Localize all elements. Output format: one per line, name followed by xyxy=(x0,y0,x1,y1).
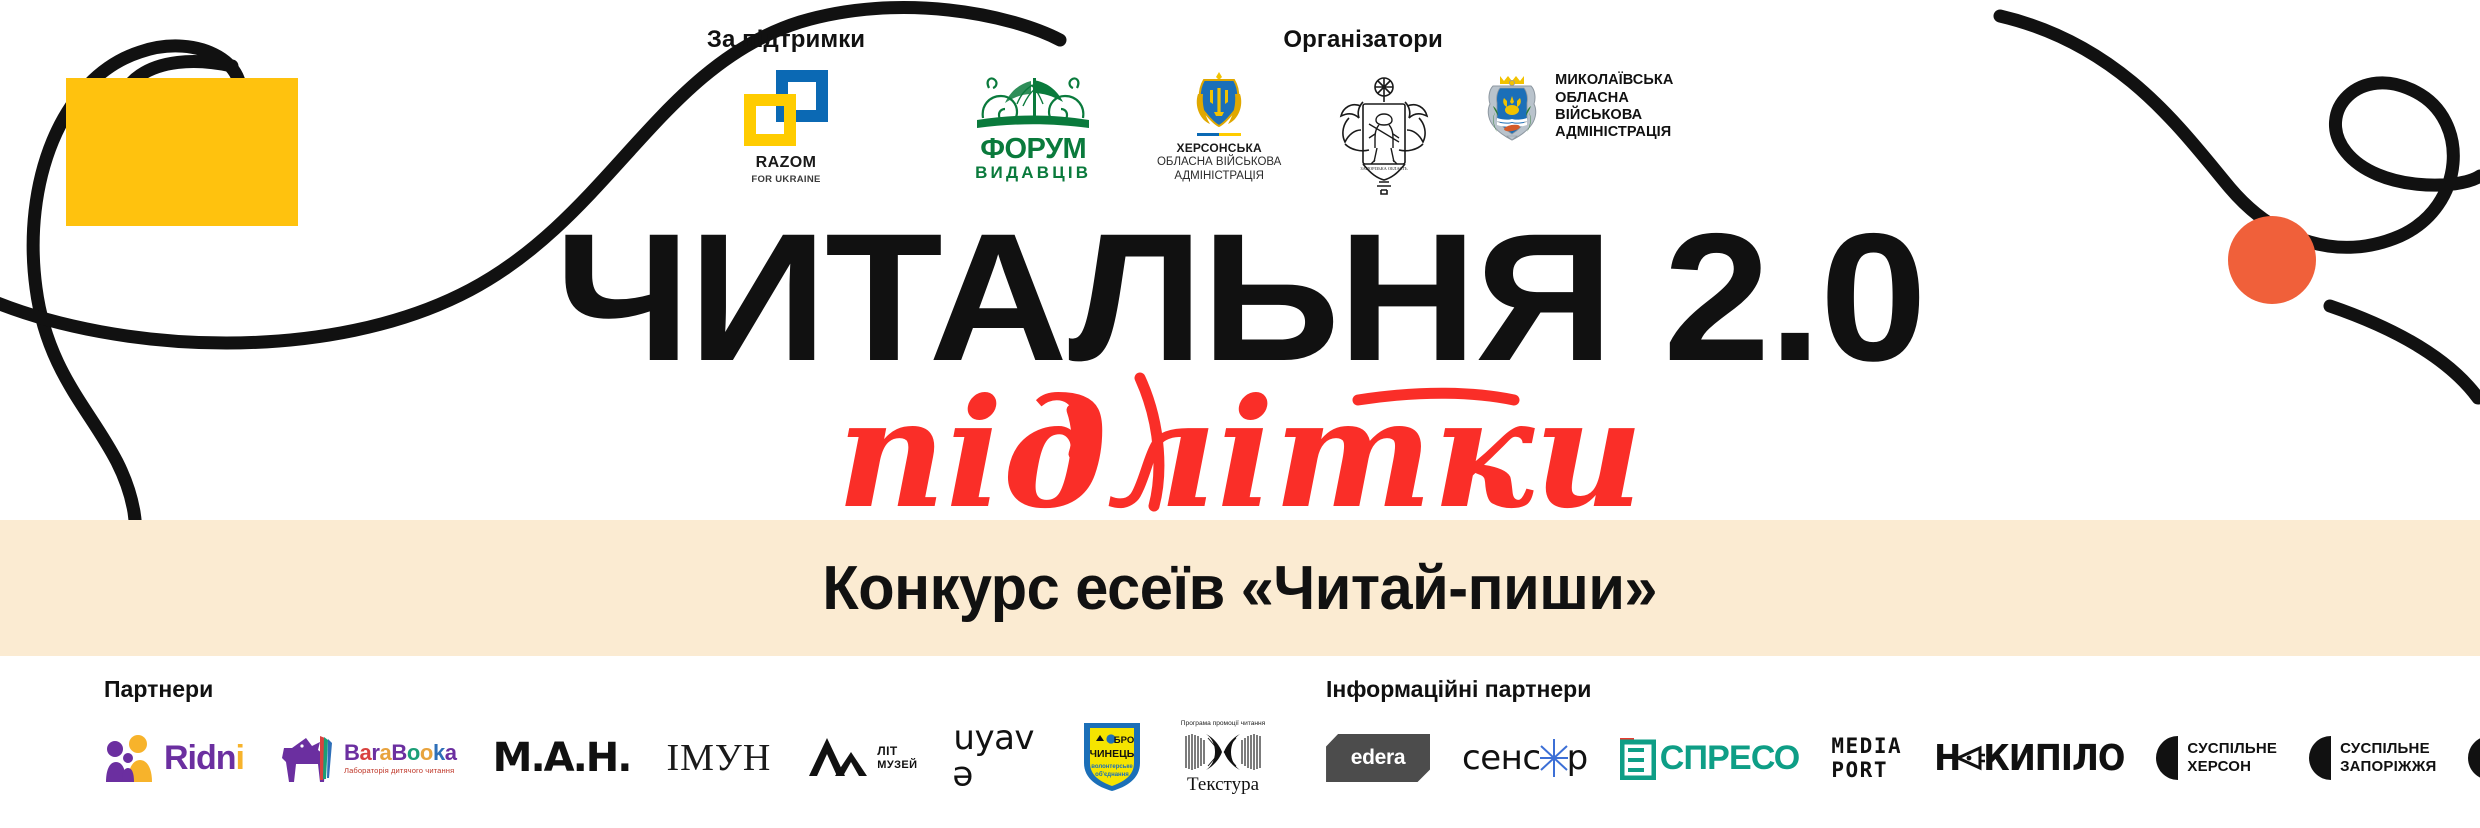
logo-textura[interactable]: Програма промоції читання Текстура xyxy=(1180,720,1266,795)
textura-wordmark: Текстура xyxy=(1187,774,1259,796)
logo-man[interactable]: М.А.Н. xyxy=(493,735,631,781)
support-logos: RAZOM FOR UKRAINE xyxy=(711,70,861,185)
suspilne-kherson-line-2: ХЕРСОН xyxy=(2187,758,2277,776)
oda-flag-rule xyxy=(1197,133,1241,136)
logo-suspilne-zaporizhzhia[interactable]: СУСПІЛЬНЕ ЗАПОРІЖЖЯ xyxy=(2309,736,2436,780)
svg-text:ЧИНЕЦЬ: ЧИНЕЦЬ xyxy=(1090,748,1135,760)
organizers-label: Організатори xyxy=(1283,26,1443,54)
forum-line-1: ФОРУМ xyxy=(980,136,1086,164)
razom-interlocking-squares-icon xyxy=(744,70,828,146)
mykolaiv-oda-text: МИКОЛАЇВСЬКА ОБЛАСНА ВІЙСЬКОВА АДМІНІСТР… xyxy=(1555,72,1673,142)
logo-nakypilo[interactable]: Н КИПІЛО xyxy=(1934,738,2124,779)
razom-wordmark: RAZOM xyxy=(756,154,817,172)
zaporizhzhia-cossack-crest-icon: ЗАПОРІЗЬКА ОБЛАСТЬ xyxy=(1335,74,1433,196)
logo-suspilne-kherson[interactable]: СУСПІЛЬНЕ ХЕРСОН xyxy=(2156,736,2277,780)
textura-tagline: Програма промоції читання xyxy=(1181,720,1265,728)
partners-logo-row: Ridni BaraBooka Лабораторія дитячого чит… xyxy=(104,719,1266,797)
mediaport-line-2: PORT xyxy=(1831,758,1902,782)
logo-imun[interactable]: ІМУН xyxy=(666,736,771,780)
kherson-oda-line-3: АДМІНІСТРАЦІЯ xyxy=(1174,169,1264,183)
kherson-oda-line-1: ХЕРСОНСЬКА xyxy=(1176,141,1261,155)
suspilne-zaporizhzhia-line-2: ЗАПОРІЖЖЯ xyxy=(2340,758,2436,776)
suspilne-halfmoon-icon xyxy=(2468,736,2480,780)
barabooka-wordmark: BaraBooka xyxy=(344,742,457,764)
svg-text:БРО: БРО xyxy=(1114,735,1134,746)
espreso-wordmark: СПРЕСО xyxy=(1660,739,1800,778)
info-partners-logo-row: edera сенс р СПРЕСО xyxy=(1326,719,2480,797)
edera-wordmark: edera xyxy=(1351,746,1406,770)
logo-edera[interactable]: edera xyxy=(1326,734,1430,782)
logo-kherson-oda[interactable]: ХЕРСОНСЬКА ОБЛАСНА ВІЙСЬКОВА АДМІНІСТРАЦ… xyxy=(1153,70,1285,184)
hero-section: ЧИТАЛЬНЯ 2.0 підлітки xyxy=(0,198,2480,528)
logo-sensor[interactable]: сенс р xyxy=(1462,738,1588,778)
script-flourish-dot xyxy=(1072,410,1077,454)
logo-dobrochynets[interactable]: БРО ЧИНЕЦЬ волонтерське об'єднання xyxy=(1080,719,1144,798)
info-partners-column: Інформаційні партнери edera сенс р xyxy=(1266,656,2480,828)
sensor-wordmark-pre: сенс xyxy=(1462,738,1541,778)
partners-column: Партнери Ridni xyxy=(0,656,1266,828)
nakypilo-wordmark-post: КИПІЛО xyxy=(1983,738,2124,779)
partners-label: Партнери xyxy=(104,676,1266,703)
lit-museum-line-2: МУЗЕЙ xyxy=(877,759,917,773)
logo-razom[interactable]: RAZOM FOR UKRAINE xyxy=(711,70,861,185)
sensor-asterisk-icon xyxy=(1539,738,1569,778)
mykolaiv-crest-icon xyxy=(1483,70,1541,144)
ridni-family-icon xyxy=(104,734,160,782)
support-group: За підтримки RAZOM FOR UKRAINE xyxy=(707,0,865,185)
footer-partners: Партнери Ridni xyxy=(0,656,2480,828)
barabooka-tagline: Лабораторія дитячого читання xyxy=(344,766,457,775)
suspilne-zaporizhzhia-text: СУСПІЛЬНЕ ЗАПОРІЖЖЯ xyxy=(2340,740,2436,776)
ridni-wordmark: Ridni xyxy=(164,739,244,778)
kherson-oda-line-2: ОБЛАСНА ВІЙСЬКОВА xyxy=(1157,155,1281,169)
organizers-group: Організатори xyxy=(953,0,1773,200)
suspilne-halfmoon-icon xyxy=(2309,736,2331,780)
logo-ridni[interactable]: Ridni xyxy=(104,734,244,782)
lit-museum-line-1: ЛІТ xyxy=(877,744,917,759)
info-partners-label: Інформаційні партнери xyxy=(1326,676,2480,703)
mykolaiv-oda-line-1: МИКОЛАЇВСЬКА xyxy=(1555,72,1673,89)
mediaport-line-1: MEDIA xyxy=(1831,734,1902,758)
logo-espreso[interactable]: СПРЕСО xyxy=(1620,736,1800,780)
logo-forum-vydavciv[interactable]: ФОРУМ ВИДАВЦІВ xyxy=(953,70,1113,182)
razom-tagline: FOR UKRAINE xyxy=(751,174,820,185)
hero-script-word: підлітки xyxy=(837,366,1643,542)
mykolaiv-oda-line-4: АДМІНІСТРАЦІЯ xyxy=(1555,124,1673,141)
suspilne-halfmoon-icon xyxy=(2156,736,2178,780)
logo-barabooka[interactable]: BaraBooka Лабораторія дитячого читання xyxy=(280,734,457,782)
nakypilo-megaphone-icon xyxy=(1956,743,1986,773)
logo-mediaport[interactable]: MEDIA PORT xyxy=(1831,734,1902,782)
svg-text:ЗАПОРІЗЬКА ОБЛАСТЬ: ЗАПОРІЗЬКА ОБЛАСТЬ xyxy=(1361,166,1409,171)
suspilne-zaporizhzhia-line-1: СУСПІЛЬНЕ xyxy=(2340,740,2436,758)
logo-suspilne-mykolaiv[interactable]: СУСПІЛЬНЕ МИКОЛАЇВ xyxy=(2468,736,2480,780)
lit-museum-text: ЛІТ МУЗЕЙ xyxy=(877,744,917,773)
dobrochynets-shield-icon: БРО ЧИНЕЦЬ волонтерське об'єднання xyxy=(1080,719,1144,793)
support-label: За підтримки xyxy=(707,26,865,54)
mykolaiv-oda-line-2: ОБЛАСНА xyxy=(1555,90,1673,107)
sensor-wordmark-post: р xyxy=(1567,738,1588,778)
subtitle-band: Конкурс есеїв «Читай-пиши» xyxy=(0,520,2480,656)
logo-lit-museum[interactable]: ЛІТ МУЗЕЙ xyxy=(807,736,917,780)
lit-museum-peaks-icon xyxy=(807,736,869,780)
organizers-logos: ФОРУМ ВИДАВЦІВ ХЕ xyxy=(953,70,1773,200)
dobro-line-3: волонтерське xyxy=(1091,764,1133,770)
textura-pattern-icon xyxy=(1184,732,1262,772)
suspilne-kherson-line-1: СУСПІЛЬНЕ xyxy=(2187,740,2277,758)
logo-zaporizhzhia-crest[interactable]: ЗАПОРІЗЬКА ОБЛАСТЬ xyxy=(1325,70,1443,200)
mykolaiv-oda-line-3: ВІЙСЬКОВА xyxy=(1555,107,1673,124)
barabooka-text: BaraBooka Лабораторія дитячого читання xyxy=(344,742,457,775)
barabooka-dog-icon xyxy=(280,734,338,782)
suspilne-kherson-text: СУСПІЛЬНЕ ХЕРСОН xyxy=(2187,740,2277,776)
forum-line-2: ВИДАВЦІВ xyxy=(975,164,1091,183)
dobro-line-4: об'єднання xyxy=(1095,771,1129,778)
subtitle-text: Конкурс есеїв «Читай-пиши» xyxy=(823,553,1658,624)
logo-mykolaiv-oda[interactable]: МИКОЛАЇВСЬКА ОБЛАСНА ВІЙСЬКОВА АДМІНІСТР… xyxy=(1483,70,1773,144)
espreso-e-icon xyxy=(1620,736,1656,780)
page-title: ЧИТАЛЬНЯ 2.0 xyxy=(0,206,2480,388)
logo-uyava[interactable]: uyave xyxy=(953,718,1044,798)
forum-snails-book-icon xyxy=(973,70,1093,136)
ukraine-trident-crest-icon xyxy=(1192,70,1246,128)
